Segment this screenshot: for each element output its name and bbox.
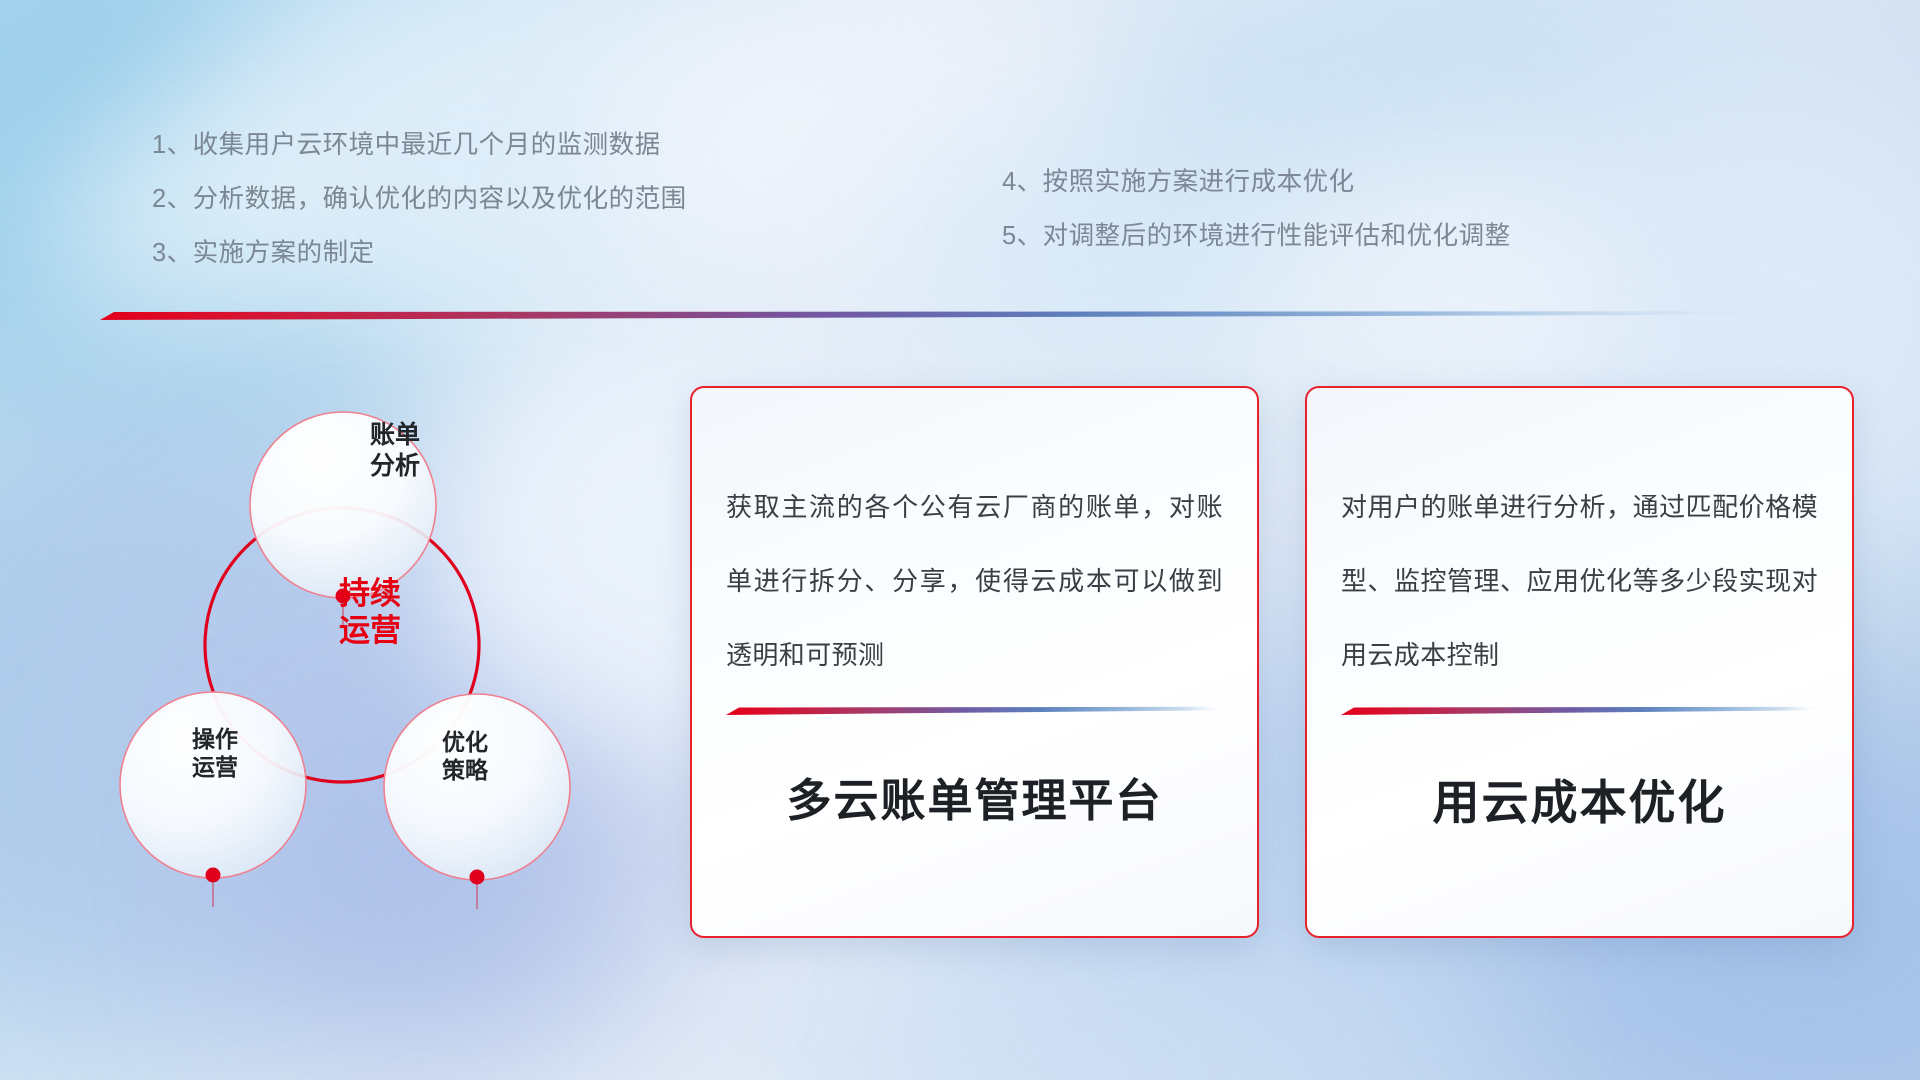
card-divider (1341, 706, 1818, 716)
step-list-right: 4、按照实施方案进行成本优化 5、对调整后的环境进行性能评估和优化调整 (1002, 155, 1511, 263)
venn-circle-top (250, 412, 436, 598)
step-list-item: 1、收集用户云环境中最近几个月的监测数据 (152, 118, 687, 172)
card-title: 多云账单管理平台 (692, 764, 1257, 829)
section-divider (100, 310, 1780, 322)
venn-node-bottom-right (470, 870, 485, 885)
venn-node-bottom-left (206, 868, 221, 883)
step-list-item: 5、对调整后的环境进行性能评估和优化调整 (1002, 209, 1511, 263)
venn-node-top (336, 589, 351, 604)
venn-circle-bottom-left (120, 692, 306, 878)
feature-card-multi-cloud-billing[interactable]: 获取主流的各个公有云厂商的账单，对账单进行拆分、分享，使得云成本可以做到透明和可… (690, 386, 1259, 938)
card-body-text: 获取主流的各个公有云厂商的账单，对账单进行拆分、分享，使得云成本可以做到透明和可… (692, 470, 1257, 692)
step-list-item: 2、分析数据，确认优化的内容以及优化的范围 (152, 172, 687, 226)
venn-circle-bottom-right (384, 694, 570, 880)
card-divider (726, 706, 1223, 716)
card-body-text: 对用户的账单进行分析，通过匹配价格模型、监控管理、应用优化等多少段实现对用云成本… (1307, 470, 1852, 692)
feature-card-cloud-cost-optimization[interactable]: 对用户的账单进行分析，通过匹配价格模型、监控管理、应用优化等多少段实现对用云成本… (1305, 386, 1854, 938)
step-list-item: 4、按照实施方案进行成本优化 (1002, 155, 1511, 209)
venn-diagram: 账单 分析 操作 运营 优化 策略 持续 运营 (95, 345, 615, 945)
step-list-left: 1、收集用户云环境中最近几个月的监测数据 2、分析数据，确认优化的内容以及优化的… (152, 118, 687, 280)
step-list-item: 3、实施方案的制定 (152, 226, 687, 280)
card-title: 用云成本优化 (1307, 764, 1852, 833)
